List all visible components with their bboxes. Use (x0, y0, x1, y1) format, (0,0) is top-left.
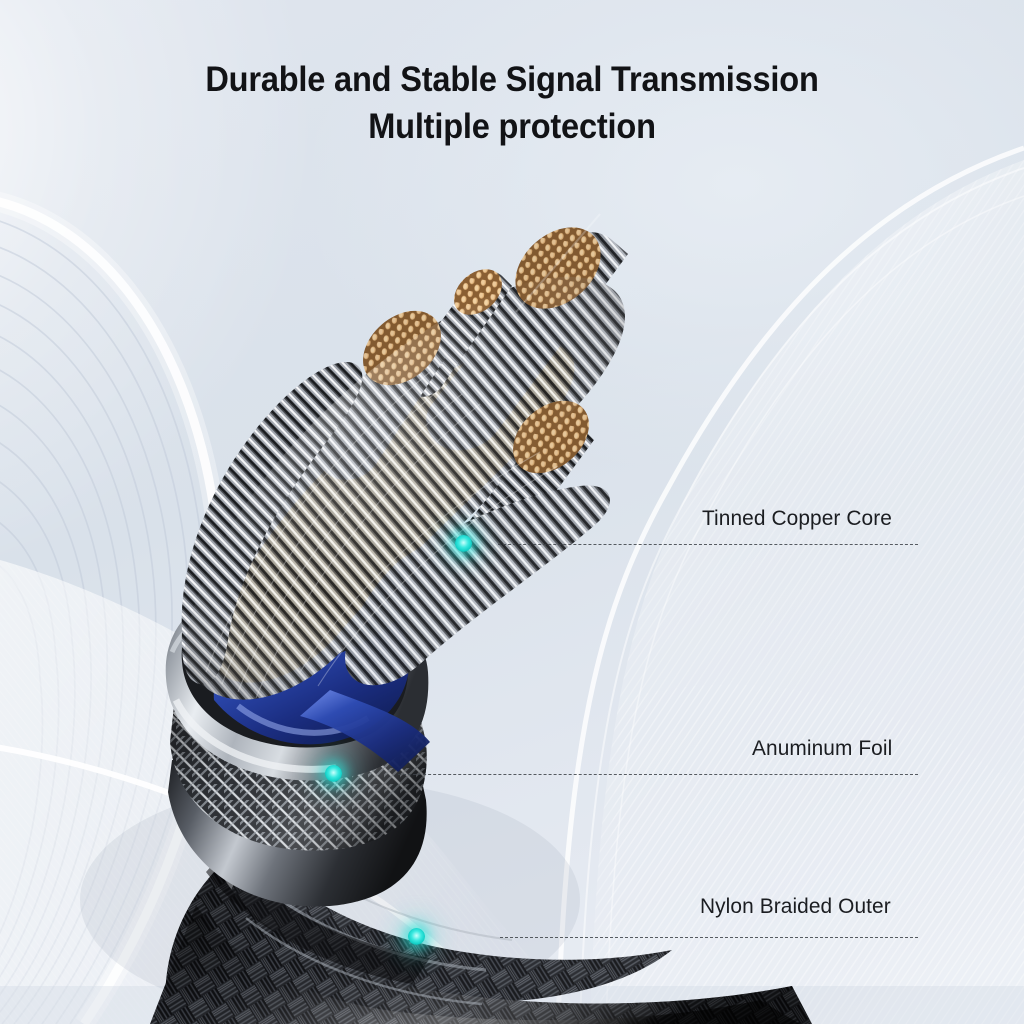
nylon-braided-outer-marker-dot (408, 928, 425, 945)
nylon-braided-outer-label: Nylon Braided Outer (700, 894, 891, 919)
infographic-canvas: Durable and Stable Signal Transmission M… (0, 0, 1024, 1024)
callout-nylon-braided-outer: Nylon Braided Outer (0, 0, 1024, 1024)
nylon-braided-outer-leader-line (500, 937, 918, 938)
